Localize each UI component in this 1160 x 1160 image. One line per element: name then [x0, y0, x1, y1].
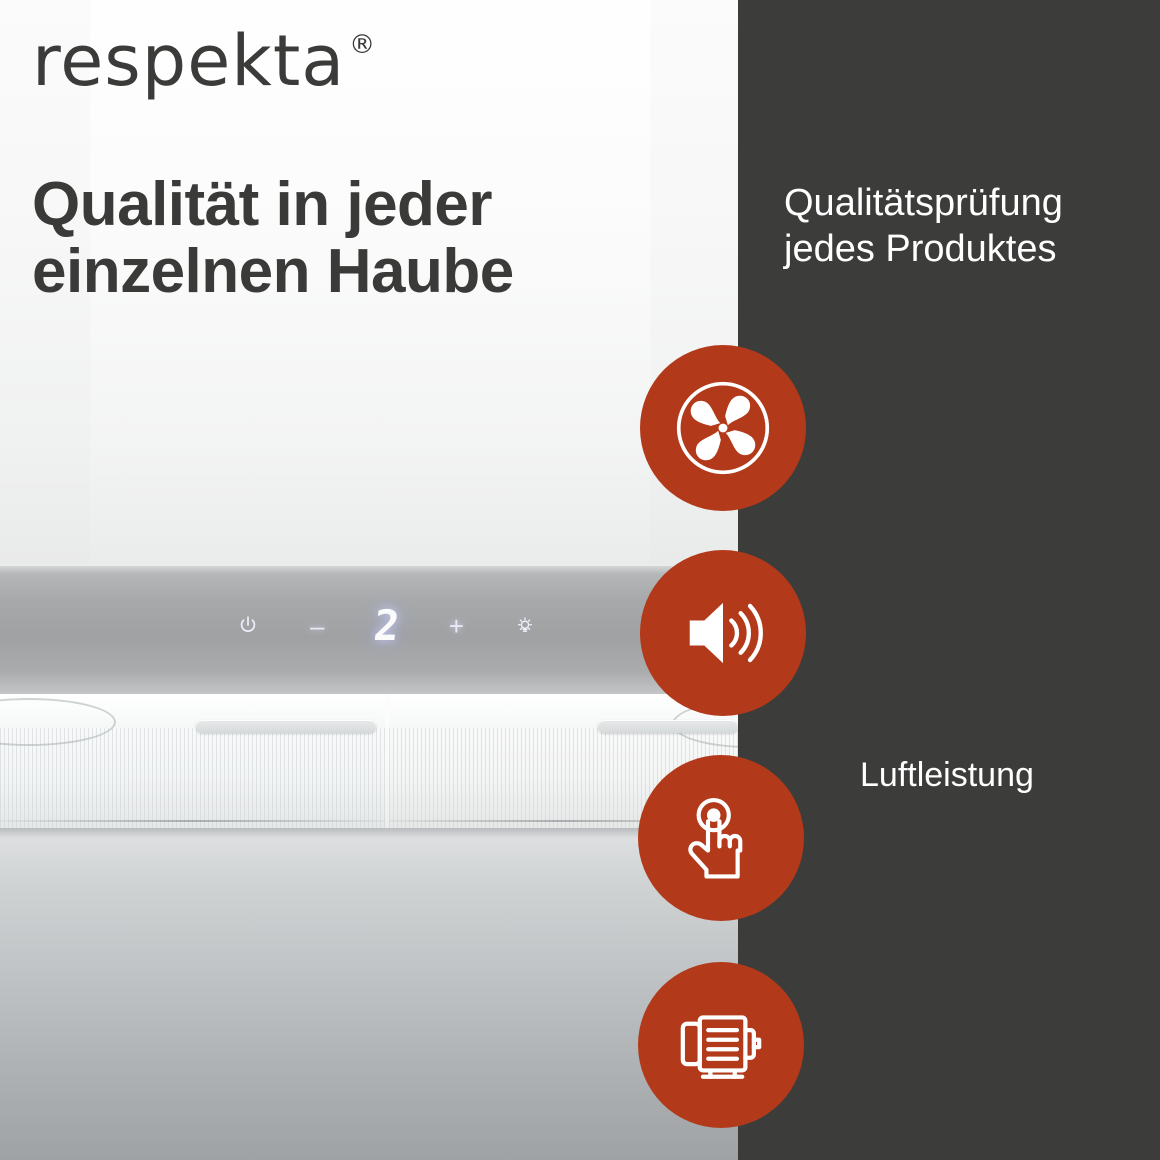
- filter-handle-right: [598, 720, 738, 733]
- filter-handle-left: [196, 720, 376, 733]
- headline-line-1: Qualität in jeder: [32, 172, 612, 239]
- feature-row-lautstaerke: Lautstärke: [0, 550, 1160, 716]
- electric-motor-icon: [638, 962, 804, 1128]
- infographic-canvas: – 2 + respekta ® Qualität in jeder einze…: [0, 0, 1160, 1160]
- registered-trademark-symbol: ®: [349, 32, 375, 58]
- panel-title-line-2: jedes Produktes: [784, 226, 1124, 272]
- brand-logo: respekta ®: [32, 26, 375, 96]
- fan-icon: [640, 345, 806, 511]
- page-headline: Qualität in jeder einzelnen Haube: [32, 172, 612, 306]
- feature-row-motor: Motor: [0, 962, 1160, 1128]
- panel-title-line-1: Qualitätsprüfung: [784, 180, 1124, 226]
- headline-line-2: einzelnen Haube: [32, 239, 612, 306]
- brand-logo-text: respekta: [32, 26, 345, 96]
- feature-row-luftleistung: Luftleistung: [0, 345, 1160, 511]
- speaker-volume-icon: [640, 550, 806, 716]
- panel-title: Qualitätsprüfung jedes Produktes: [784, 180, 1124, 273]
- feature-row-funktionstuechtigkeit: Funktions- tüchtigkeit: [0, 755, 1160, 921]
- tap-gesture-icon: [638, 755, 804, 921]
